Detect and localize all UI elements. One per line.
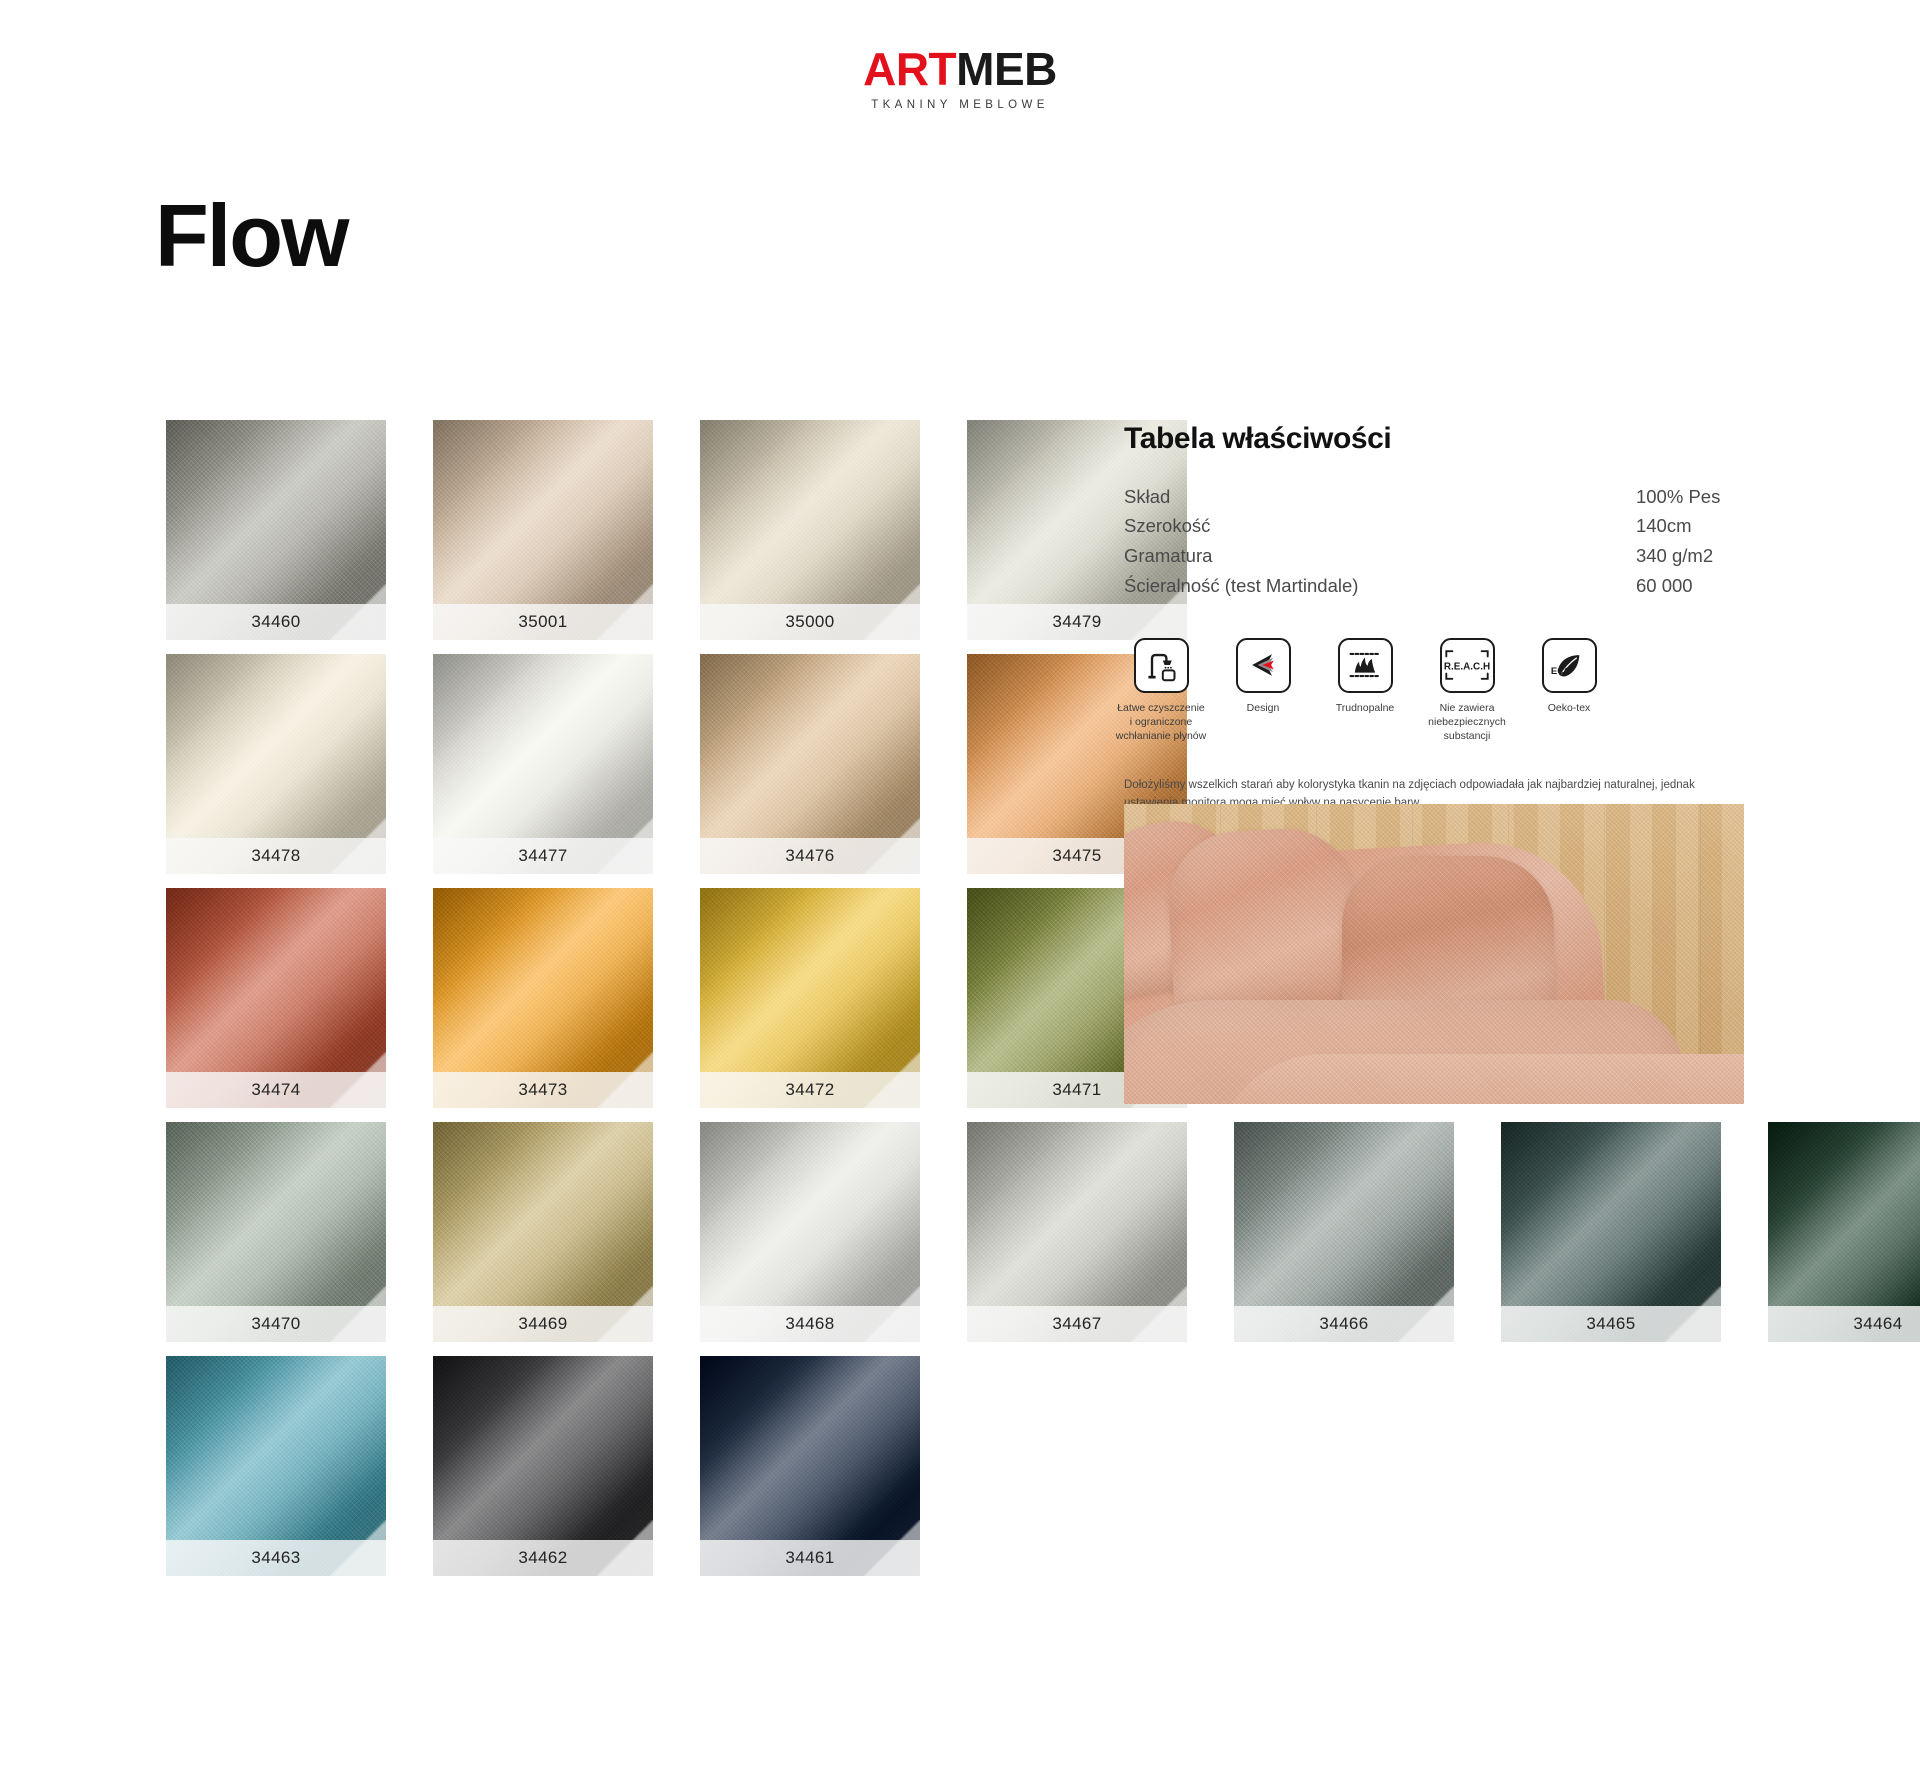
- swatch-code: 34468: [785, 1314, 834, 1334]
- swatch-label-strip: 34464: [1768, 1306, 1920, 1342]
- swatch-code: 34472: [785, 1080, 834, 1100]
- property-label: Skład: [1124, 482, 1636, 512]
- fabric-swatch[interactable]: 35001: [433, 420, 653, 640]
- properties-table: Skład100% PesSzerokość140cmGramatura340 …: [1124, 482, 1744, 602]
- swatch-code: 34467: [1052, 1314, 1101, 1334]
- swatch-code: 34465: [1586, 1314, 1635, 1334]
- fabric-swatch[interactable]: 34464: [1768, 1122, 1920, 1342]
- fabric-swatch[interactable]: 35000: [700, 420, 920, 640]
- property-value: 60 000: [1636, 572, 1744, 602]
- sofa-lifestyle-photo: [1124, 804, 1744, 1104]
- catalog-page: ARTMEB TKANINY MEBLOWE Flow 344603500135…: [0, 0, 1920, 1768]
- fabric-swatch[interactable]: 34460: [166, 420, 386, 640]
- property-row: Skład100% Pes: [1124, 482, 1744, 512]
- logo-tagline: TKANINY MEBLOWE: [871, 99, 1049, 111]
- fabric-swatch[interactable]: 34462: [433, 1356, 653, 1576]
- swatch-code: 34471: [1052, 1080, 1101, 1100]
- swatch-label-strip: 34460: [166, 604, 386, 640]
- swatch-label-strip: 34465: [1501, 1306, 1721, 1342]
- certification-caption: Oeko-tex: [1523, 702, 1615, 716]
- swatch-code: 34470: [251, 1314, 300, 1334]
- fabric-swatch[interactable]: 34466: [1234, 1122, 1454, 1342]
- property-row: Szerokość140cm: [1124, 512, 1744, 542]
- swatch-row: 34470344693446834467344663446534464: [166, 1122, 1746, 1342]
- swatch-label-strip: 34477: [433, 838, 653, 874]
- certification-item: Łatwe czyszczenie i ograniczone wchłania…: [1124, 638, 1198, 744]
- reach-icon: R.E.A.C.H: [1440, 638, 1495, 693]
- property-label: Szerokość: [1124, 512, 1636, 542]
- fabric-swatch[interactable]: 34476: [700, 654, 920, 874]
- certification-icons-row: Łatwe czyszczenie i ograniczone wchłania…: [1124, 638, 1744, 744]
- certification-item: R.E.A.C.H Nie zawiera niebezpiecznych su…: [1430, 638, 1504, 744]
- swatch-code: 34473: [518, 1080, 567, 1100]
- fabric-swatch[interactable]: 34461: [700, 1356, 920, 1576]
- certification-item: ECO Oeko-tex: [1532, 638, 1606, 744]
- logo-wordmark: ARTMEB: [863, 46, 1057, 92]
- swatch-label-strip: 34474: [166, 1072, 386, 1108]
- property-row: Gramatura340 g/m2: [1124, 542, 1744, 572]
- swatch-label-strip: 35000: [700, 604, 920, 640]
- property-label: Ścieralność (test Martindale): [1124, 572, 1636, 602]
- swatch-label-strip: 34468: [700, 1306, 920, 1342]
- property-row: Ścieralność (test Martindale)60 000: [1124, 572, 1744, 602]
- logo-art-text: ART: [863, 43, 956, 95]
- property-value: 100% Pes: [1636, 482, 1744, 512]
- fabric-swatch[interactable]: 34467: [967, 1122, 1187, 1342]
- swatch-label-strip: 34462: [433, 1540, 653, 1576]
- fabric-swatch[interactable]: 34469: [433, 1122, 653, 1342]
- svg-text:R.E.A.C.H: R.E.A.C.H: [1444, 662, 1490, 673]
- fabric-swatch[interactable]: 34478: [166, 654, 386, 874]
- fabric-swatch[interactable]: 34463: [166, 1356, 386, 1576]
- flame-icon: [1338, 638, 1393, 693]
- swatch-code: 34460: [251, 612, 300, 632]
- swatch-code: 34477: [518, 846, 567, 866]
- fabric-swatch[interactable]: 34465: [1501, 1122, 1721, 1342]
- swatch-label-strip: 34473: [433, 1072, 653, 1108]
- swatch-label-strip: 34476: [700, 838, 920, 874]
- swatch-code: 34479: [1052, 612, 1101, 632]
- swatch-label-strip: 34467: [967, 1306, 1187, 1342]
- certification-caption: Design: [1217, 702, 1309, 716]
- property-label: Gramatura: [1124, 542, 1636, 572]
- swatch-code: 34476: [785, 846, 834, 866]
- certification-item: Design: [1226, 638, 1300, 744]
- property-value: 340 g/m2: [1636, 542, 1744, 572]
- swatch-label-strip: 34478: [166, 838, 386, 874]
- fabric-swatch[interactable]: 34473: [433, 888, 653, 1108]
- swatch-label-strip: 34461: [700, 1540, 920, 1576]
- logo-meb-text: MEB: [956, 43, 1057, 95]
- swatch-code: 34463: [251, 1548, 300, 1568]
- swatch-code: 34469: [518, 1314, 567, 1334]
- fabric-swatch[interactable]: 34468: [700, 1122, 920, 1342]
- swatch-label-strip: 35001: [433, 604, 653, 640]
- swatch-label-strip: 34469: [433, 1306, 653, 1342]
- spray-cleaning-icon: [1134, 638, 1189, 693]
- property-value: 140cm: [1636, 512, 1744, 542]
- brand-logo: ARTMEB TKANINY MEBLOWE: [0, 46, 1920, 111]
- swatch-code: 34466: [1319, 1314, 1368, 1334]
- fabric-swatch[interactable]: 34470: [166, 1122, 386, 1342]
- fabric-swatch[interactable]: 34474: [166, 888, 386, 1108]
- swatch-code: 35001: [518, 612, 567, 632]
- swatch-label-strip: 34466: [1234, 1306, 1454, 1342]
- fabric-swatch[interactable]: 34472: [700, 888, 920, 1108]
- eco-leaf-icon: ECO: [1542, 638, 1597, 693]
- svg-text:ECO: ECO: [1551, 666, 1572, 677]
- swatch-code: 34464: [1853, 1314, 1902, 1334]
- certification-caption: Łatwe czyszczenie i ograniczone wchłania…: [1115, 702, 1207, 744]
- swatch-code: 34475: [1052, 846, 1101, 866]
- sofa-seat-front: [1214, 1054, 1744, 1104]
- swatch-label-strip: 34463: [166, 1540, 386, 1576]
- design-arrow-icon: [1236, 638, 1291, 693]
- certification-item: Trudnopalne: [1328, 638, 1402, 744]
- swatch-label-strip: 34472: [700, 1072, 920, 1108]
- swatch-label-strip: 34470: [166, 1306, 386, 1342]
- swatch-code: 34474: [251, 1080, 300, 1100]
- swatch-code: 34461: [785, 1548, 834, 1568]
- certification-caption: Nie zawiera niebezpiecznych substancji: [1421, 702, 1513, 744]
- certification-caption: Trudnopalne: [1319, 702, 1411, 716]
- swatch-row: 344633446234461: [166, 1356, 1746, 1576]
- page-title: Flow: [155, 192, 347, 280]
- properties-panel: Tabela właściwości Skład100% PesSzerokoś…: [1124, 422, 1744, 847]
- swatch-code: 34478: [251, 846, 300, 866]
- fabric-swatch[interactable]: 34477: [433, 654, 653, 874]
- properties-heading: Tabela właściwości: [1124, 422, 1744, 456]
- sofa-cushion-middle: [1165, 825, 1360, 1016]
- swatch-code: 35000: [785, 612, 834, 632]
- swatch-code: 34462: [518, 1548, 567, 1568]
